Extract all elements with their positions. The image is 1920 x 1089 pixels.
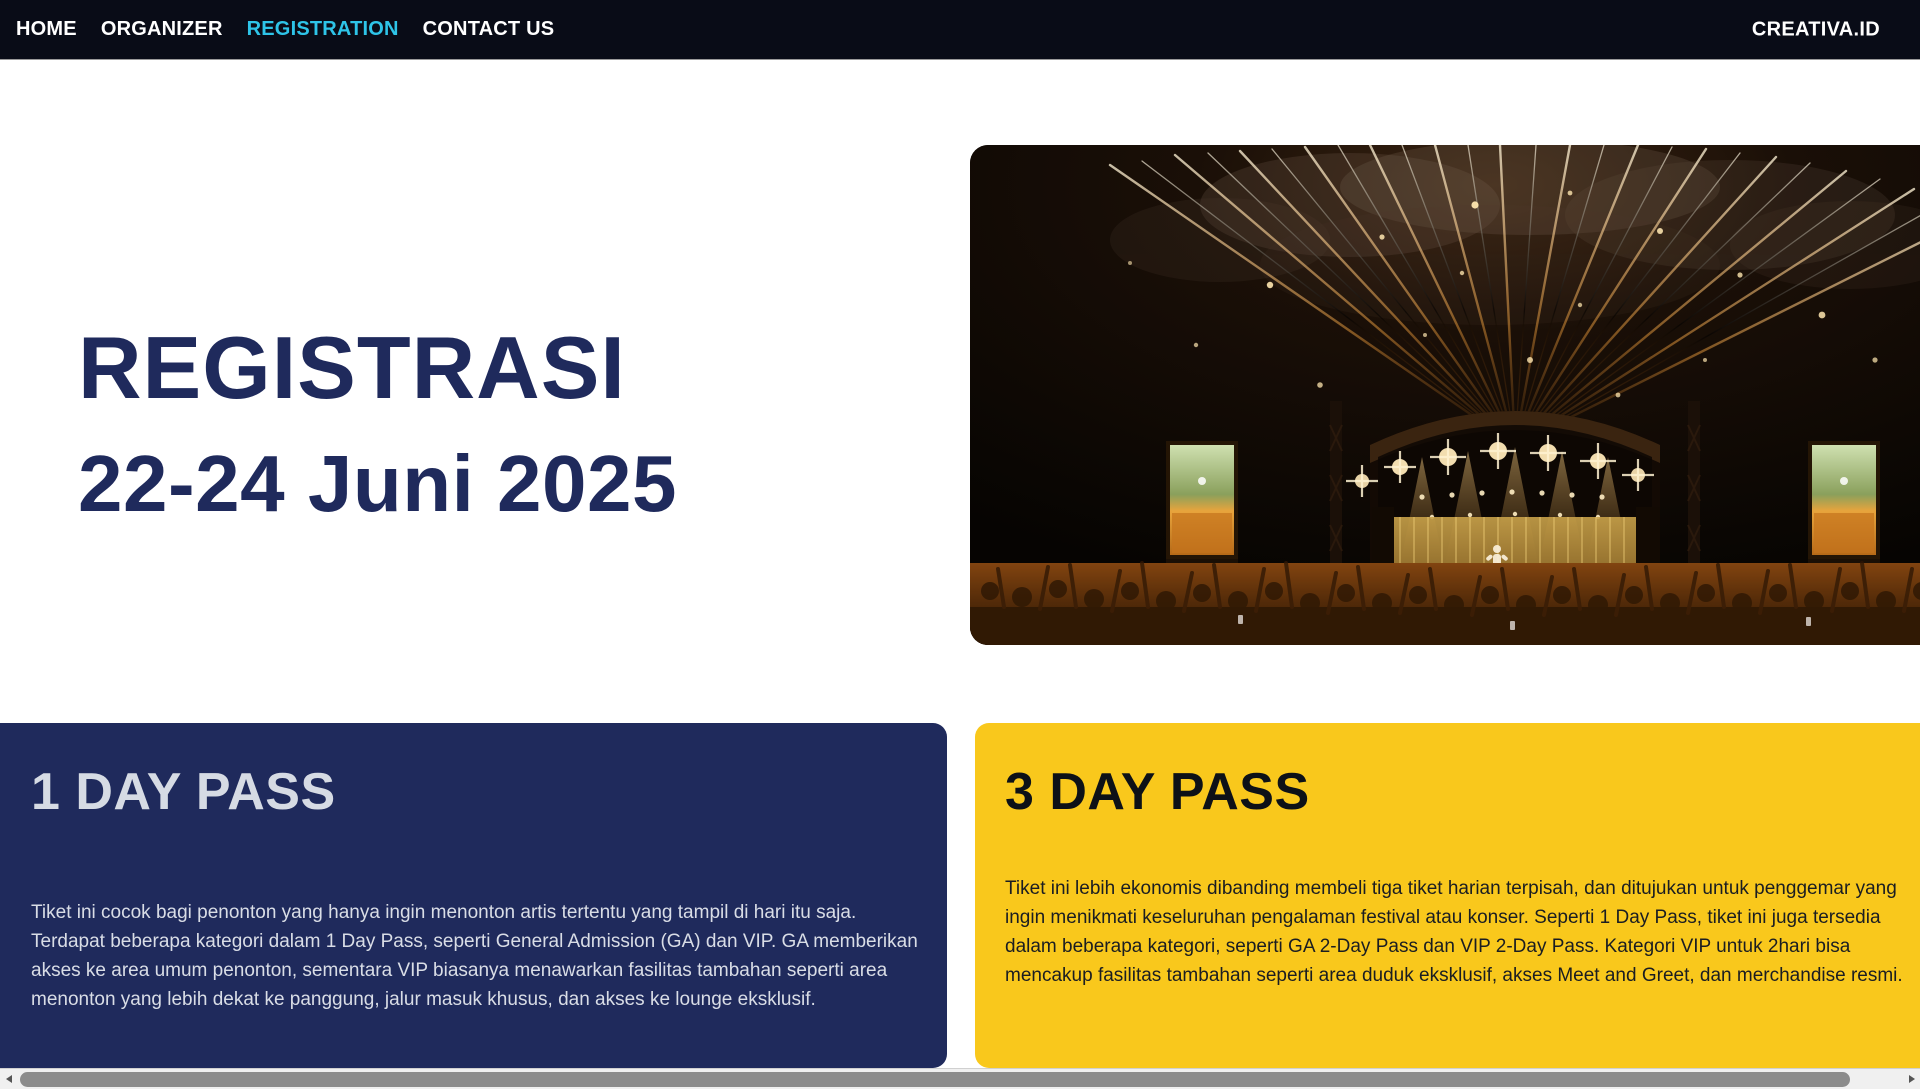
nav-link-home[interactable]: HOME: [16, 18, 77, 41]
hero-title-block: REGISTRASI 22-24 Juni 2025: [78, 319, 908, 532]
hero-concert-image: [970, 145, 1920, 645]
nav-link-contact-us[interactable]: CONTACT US: [423, 18, 555, 41]
scroll-right-arrow-icon[interactable]: [1903, 1069, 1920, 1089]
card-title-one-day-pass: 1 DAY PASS: [31, 762, 336, 822]
hero-section: REGISTRASI 22-24 Juni 2025: [0, 61, 1920, 723]
page-title: REGISTRASI: [78, 319, 908, 418]
horizontal-scrollbar[interactable]: [0, 1068, 1920, 1089]
scroll-left-arrow-icon[interactable]: [0, 1069, 17, 1089]
card-description-one-day-pass: Tiket ini cocok bagi penonton yang hanya…: [31, 899, 926, 1015]
pass-cards-section: 1 DAY PASS Tiket ini cocok bagi penonton…: [0, 723, 1920, 1068]
card-one-day-pass[interactable]: 1 DAY PASS Tiket ini cocok bagi penonton…: [0, 723, 947, 1068]
nav-link-registration[interactable]: REGISTRATION: [247, 18, 399, 41]
card-description-three-day-pass: Tiket ini lebih ekonomis dibanding membe…: [1005, 875, 1905, 991]
brand-logo-text[interactable]: CREATIVA.ID: [1752, 18, 1880, 41]
scrollbar-thumb[interactable]: [20, 1072, 1850, 1087]
concert-illustration: [970, 145, 1920, 645]
nav-link-organizer[interactable]: ORGANIZER: [101, 18, 223, 41]
card-three-day-pass[interactable]: 3 DAY PASS Tiket ini lebih ekonomis diba…: [975, 723, 1920, 1068]
scrollbar-track[interactable]: [17, 1069, 1903, 1089]
top-navigation-bar: HOME ORGANIZER REGISTRATION CONTACT US C…: [0, 0, 1920, 60]
card-title-three-day-pass: 3 DAY PASS: [1005, 762, 1310, 822]
event-date-title: 22-24 Juni 2025: [78, 436, 908, 532]
nav-links-group: HOME ORGANIZER REGISTRATION CONTACT US: [16, 18, 554, 41]
